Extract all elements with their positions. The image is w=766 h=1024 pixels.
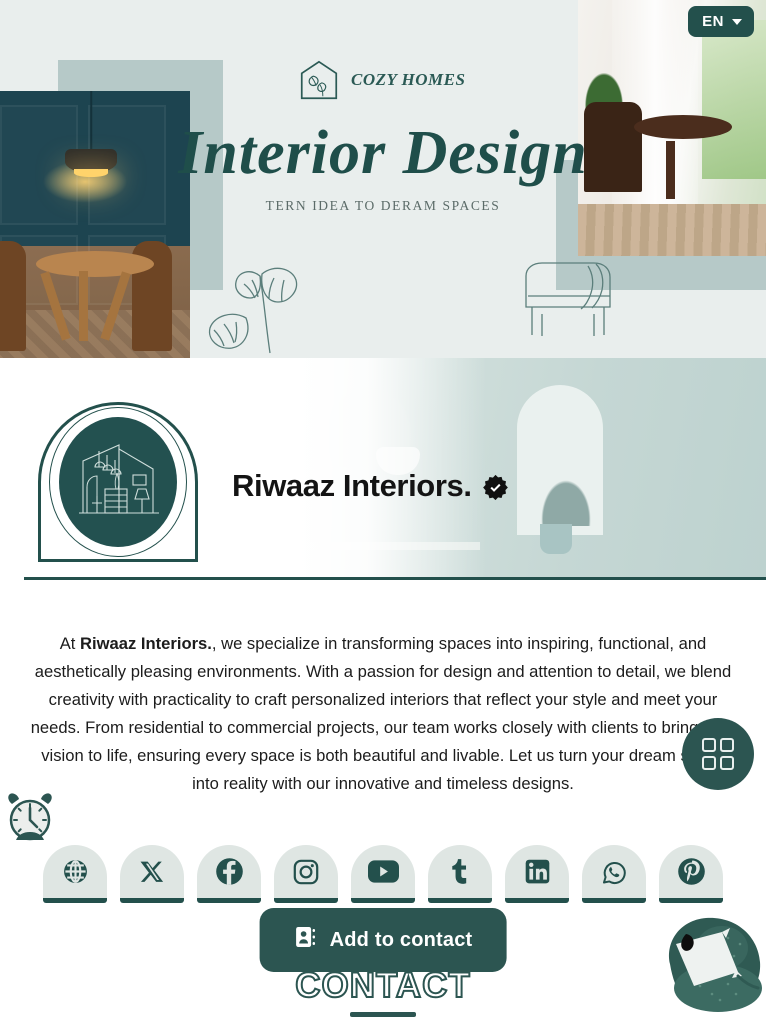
social-links [0, 845, 766, 903]
table-leg [79, 271, 88, 341]
whatsapp-icon [600, 858, 628, 886]
chevron-down-icon [732, 19, 742, 25]
pinterest-icon [677, 857, 706, 886]
grid-squares-icon [702, 738, 734, 770]
social-link-whatsapp[interactable] [582, 845, 646, 903]
social-link-website[interactable] [43, 845, 107, 903]
chair-left [0, 241, 26, 351]
about-body: , we specialize in transforming spaces i… [31, 634, 736, 793]
profile-header: Riwaaz Interiors. [0, 358, 766, 586]
beanbag-chair-icon [640, 898, 766, 1024]
social-link-youtube[interactable] [351, 845, 415, 903]
grid-squares-floating-button[interactable] [682, 718, 754, 790]
armchair-line-art-icon [512, 254, 622, 344]
table-top [36, 251, 154, 277]
profile-name-row: Riwaaz Interiors. [232, 468, 509, 504]
monstera-leaf-line-art-icon [200, 248, 350, 358]
verified-badge-icon [482, 473, 509, 500]
social-link-tumblr[interactable] [428, 845, 492, 903]
interior-room-line-logo-icon [59, 417, 177, 547]
contact-card-icon [294, 925, 318, 955]
plant-decor [531, 464, 601, 526]
avatar[interactable] [38, 402, 198, 562]
about-lead: At [60, 634, 80, 653]
social-link-instagram[interactable] [274, 845, 338, 903]
avatar-frame [38, 402, 198, 562]
about-text: At Riwaaz Interiors., we specialize in t… [0, 612, 766, 798]
page-title: Riwaaz Interiors. [232, 468, 472, 504]
add-to-contact-button[interactable]: Add to contact [260, 908, 507, 972]
facebook-icon [215, 857, 244, 886]
about-highlight: Riwaaz Interiors. [80, 634, 212, 653]
language-selector-label: EN [702, 13, 724, 30]
profile-page: COZY HOMES Interior Design TERN IDEA TO … [0, 0, 766, 1024]
pot-decor [540, 524, 572, 554]
tumblr-icon [446, 857, 475, 886]
social-link-linkedin[interactable] [505, 845, 569, 903]
banner-title: Interior Design [0, 118, 766, 189]
youtube-icon [368, 860, 399, 883]
add-to-contact-label: Add to contact [330, 929, 473, 952]
banner-subtitle: TERN IDEA TO DERAM SPACES [0, 198, 766, 214]
linkedin-icon [524, 858, 551, 885]
alarm-clock-icon [2, 792, 58, 848]
globe-icon [62, 858, 89, 885]
x-twitter-icon [140, 859, 165, 884]
contact-heading-underline [350, 1012, 416, 1017]
social-link-x[interactable] [120, 845, 184, 903]
banner-brand-name: COZY HOMES [351, 70, 465, 90]
hero-banner: COZY HOMES Interior Design TERN IDEA TO … [0, 0, 766, 358]
language-selector[interactable]: EN [688, 6, 754, 37]
profile-divider [24, 577, 766, 580]
social-link-pinterest[interactable] [659, 845, 723, 903]
house-leaf-icon [296, 57, 342, 103]
social-link-facebook[interactable] [197, 845, 261, 903]
instagram-icon [292, 858, 320, 886]
banner-brandmark: COZY HOMES [296, 57, 465, 103]
